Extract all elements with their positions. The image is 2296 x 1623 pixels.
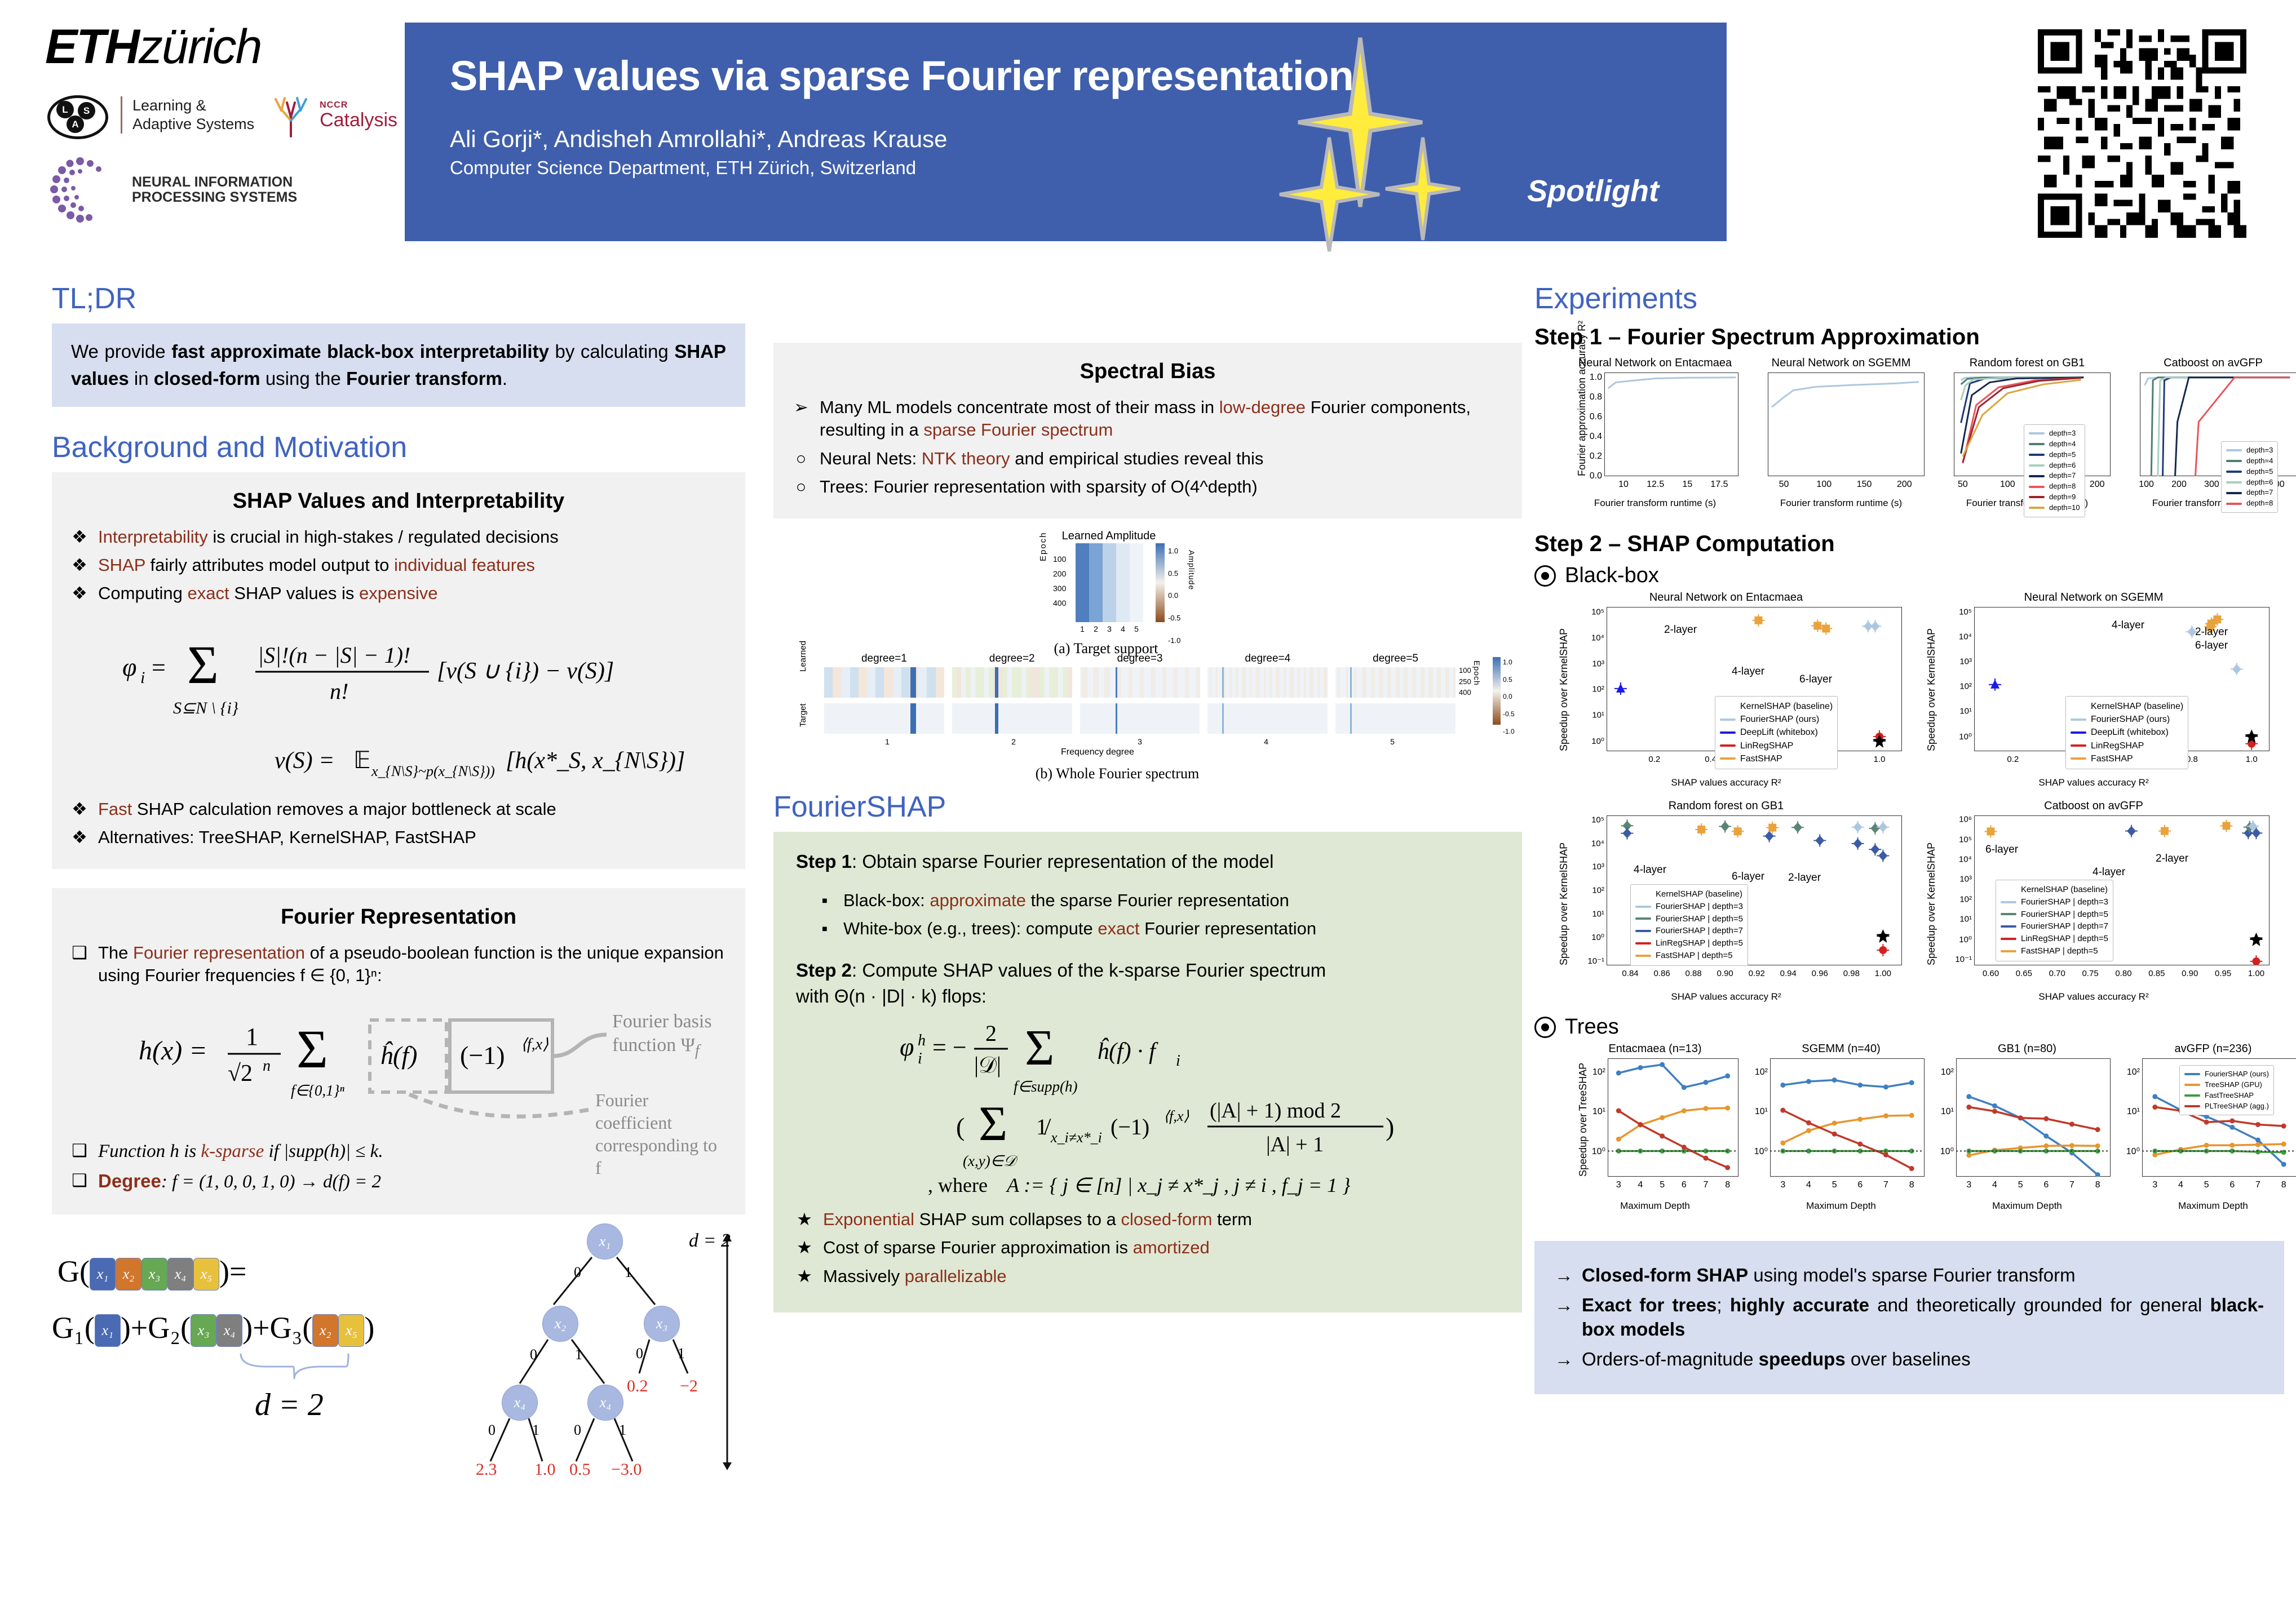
svg-text:A := { j ∈ [n] | x_j ≠ x*_j ,: A := { j ∈ [n] | x_j ≠ x*_j , j ≠ i , f_… — [1006, 1174, 1351, 1196]
legend-entry: depth=8 — [2029, 481, 2080, 492]
legend-label: FourierSHAP (ours) — [2091, 713, 2170, 726]
legend-label: depth=6 — [2049, 460, 2076, 471]
legend-entry: FourierSHAP | depth=3 — [2001, 896, 2108, 908]
spectrum-column-title: degree=3 — [1080, 653, 1200, 665]
legend-label: depth=10 — [2049, 503, 2080, 513]
decomposition-term: G₂(x₃x₄) — [148, 1311, 253, 1345]
legend-swatch — [1635, 942, 1651, 944]
chart-bb-gb1: Random forest on GB1Speedup over KernelS… — [1546, 800, 1906, 1003]
blackbox-label: Black-box — [1565, 564, 1659, 588]
legend-label: KernelSHAP (baseline) — [2091, 700, 2183, 713]
conclusions-list: →Closed-form SHAP using model's sparse F… — [1555, 1263, 2264, 1372]
fouriershap-sub-bullet: ▪White-box (e.g., trees): compute exact … — [816, 917, 1499, 940]
shap-formula: φ i = Σ S⊆N \ {i} |S|!(n − |S| − 1)! n! … — [71, 622, 726, 732]
chart-legend: depth=3depth=4depth=5depth=6depth=7depth… — [2221, 441, 2278, 513]
svg-text:ĥ(f): ĥ(f) — [380, 1041, 417, 1070]
legend-swatch — [1635, 955, 1651, 957]
conclusion-item: →Closed-form SHAP using model's sparse F… — [1555, 1263, 2264, 1288]
spectrum-column: degree=3 — [1080, 653, 1200, 737]
legend-label: FourierSHAP | depth=5 — [2021, 908, 2108, 921]
shap-bullets-top: ❖Interpretability is crucial in high-sta… — [71, 526, 726, 605]
chart-bb-avgfp: Catboost on avGFPSpeedup over KernelSHAP… — [1913, 800, 2274, 1003]
chart-plot-area — [1567, 357, 1743, 509]
left-column: TL;DR We provide fast approximate black-… — [52, 282, 745, 1485]
tree-node-x3: x₃ — [644, 1306, 680, 1342]
degree-note: d = 2 — [255, 1387, 324, 1423]
neurips-line-2: PROCESSING SYSTEMS — [132, 190, 297, 206]
legend-swatch — [2029, 475, 2045, 477]
legend-entry: DeepLift (whitebox) — [1720, 726, 1833, 739]
chart-plot-area — [1753, 1043, 1929, 1212]
tree-node-x4-right: x₄ — [587, 1385, 623, 1421]
svg-text:): ) — [1386, 1112, 1394, 1141]
legend-entry: DeepLift (whitebox) — [2071, 726, 2183, 739]
spotlight-label: Spotlight — [1527, 174, 1659, 209]
fouriershap-star-bullet: ★Massively parallelizable — [796, 1265, 1499, 1288]
legend-swatch — [2071, 744, 2086, 747]
legend-swatch — [2226, 503, 2242, 505]
shap-bullet: ❖Computing exact SHAP values is expensiv… — [71, 582, 726, 605]
legend-label: FastTreeSHAP — [2205, 1090, 2254, 1101]
chart-bb-entacmaea: Neural Network on EntacmaeaSpeedup over … — [1546, 591, 1906, 788]
spectral-bias-bullet: ○Trees: Fourier representation with spar… — [793, 476, 1503, 498]
legend-swatch — [2071, 719, 2086, 721]
spectrum-panel-b: degree=1degree=2degree=3degree=4degree=5… — [790, 653, 1512, 760]
tree-node-x4-left: x₄ — [502, 1385, 538, 1421]
neurips-line-1: NEURAL INFORMATION — [132, 175, 297, 190]
legend-label: FastSHAP — [1740, 752, 1782, 765]
legend-label: LinRegSHAP | depth=5 — [2021, 933, 2108, 945]
legend-entry: depth=6 — [2029, 460, 2080, 471]
fouriershap-formula-svg: φ h i = − 2 |𝒟| Σ f∈supp(h) ĥ(f) · f i (… — [815, 1014, 1480, 1200]
shap-formula-svg: φ i = Σ S⊆N \ {i} |S|!(n − |S| − 1)! n! … — [89, 622, 709, 729]
panel-b-row-label-learned: Learned — [798, 641, 808, 672]
bullet-marker: ○ — [793, 476, 809, 498]
chart-legend: KernelSHAP (baseline)FourierSHAP | depth… — [1630, 884, 1748, 966]
fourier-box-title: Fourier Representation — [71, 905, 726, 929]
arrow-icon: → — [1555, 1293, 1572, 1342]
legend-swatch — [1720, 744, 1736, 747]
edge-label-2: 0 — [530, 1346, 537, 1363]
nccr-tree-icon — [269, 92, 313, 138]
legend-label: FourierSHAP | depth=5 — [1656, 913, 1743, 925]
svg-text:⟨f,x⟩: ⟨f,x⟩ — [1164, 1108, 1189, 1124]
legend-entry: FourierSHAP | depth=5 — [1635, 913, 1743, 925]
legend-label: FourierSHAP | depth=3 — [2021, 896, 2108, 908]
panel-a-ytick-3: 400 — [1053, 598, 1066, 607]
chart-bb-sgemm: Neural Network on SGEMMSpeedup over Kern… — [1913, 591, 2274, 788]
legend-entry: depth=7 — [2029, 471, 2080, 481]
title-banner: SHAP values via sparse Fourier represent… — [405, 23, 1727, 241]
decomposition-term: G₃(x₂x₅) — [270, 1311, 375, 1345]
feature-chip: x₅ — [193, 1258, 219, 1291]
feature-chip: x₁ — [90, 1258, 116, 1291]
feature-chip: x₅ — [338, 1314, 364, 1347]
step1-heading: Step 1 – Fourier Spectrum Approximation — [1534, 325, 2284, 350]
svg-text:𝔼: 𝔼 — [353, 748, 371, 774]
legend-label: FourierSHAP (ours) — [1740, 713, 1819, 726]
fouriershap-sub-bullet: ▪Black-box: approximate the sparse Fouri… — [816, 889, 1499, 912]
legend-label: TreeSHAP (GPU) — [2205, 1080, 2262, 1090]
svg-text:f∈{0,1}ⁿ: f∈{0,1}ⁿ — [291, 1082, 344, 1099]
legend-label: depth=4 — [2246, 456, 2273, 467]
legend-entry: KernelSHAP (baseline) — [2071, 700, 2183, 713]
tree-leaf-5: 0.2 — [627, 1377, 648, 1396]
legend-swatch — [2029, 496, 2045, 498]
panel-a-ytick-0: 100 — [1053, 555, 1066, 564]
svg-text:h(x) =: h(x) = — [139, 1036, 207, 1066]
spectral-bias-title: Spectral Bias — [793, 360, 1503, 384]
shap-box-title: SHAP Values and Interpretability — [71, 489, 726, 513]
shap-bullet: ❖Fast SHAP calculation removes a major b… — [71, 798, 726, 821]
neurips-swirl-icon — [45, 154, 124, 225]
decomposition-equation-line2: G₁(x₁)+G₂(x₃x₄)+G₃(x₂x₅) — [52, 1310, 374, 1347]
eth-logo-light: zürich — [139, 20, 261, 74]
chart-annotation: 2-layer — [1664, 624, 1697, 636]
spectrum-column-title: degree=1 — [824, 653, 944, 665]
legend-entry: depth=5 — [2226, 467, 2273, 477]
spectrum-panel-a: Learned Amplitude Epoch 100 200 300 400 … — [1033, 530, 1219, 645]
svg-text:[h(x*_S, x_{N\S})]: [h(x*_S, x_{N\S})] — [506, 748, 685, 774]
chart-trees-gb1: GB1 (n=80)Maximum Depth34567810⁰10¹10² — [1939, 1043, 2115, 1212]
fourier-bullet-3: ❑ Degree: f = (1, 0, 0, 1, 0) → d(f) = 2 — [71, 1169, 499, 1194]
svg-text:Σ: Σ — [297, 1019, 328, 1079]
bullet-marker: ★ — [796, 1236, 813, 1259]
tree-depth-label: d = 2 — [689, 1230, 731, 1252]
panel-b-caption: (b) Whole Fourier spectrum — [959, 765, 1275, 782]
feature-chip: x₃ — [191, 1314, 216, 1347]
legend-label: depth=8 — [2049, 481, 2076, 492]
radio-icon[interactable] — [1534, 565, 1556, 587]
fourier-bullet-3-text: Degree: f = (1, 0, 0, 1, 0) → d(f) = 2 — [98, 1169, 381, 1194]
legend-label: KernelSHAP (baseline) — [1740, 700, 1833, 713]
bullet-marker: ❑ — [71, 1139, 88, 1164]
svg-text:n: n — [263, 1057, 271, 1075]
legend-entry: FastSHAP — [1720, 752, 1833, 765]
panel-a-heatmap — [1076, 543, 1143, 622]
chart-plot-area — [1939, 1043, 2115, 1212]
edge-label-5: 1 — [678, 1345, 685, 1362]
background-heading: Background and Motivation — [52, 431, 745, 464]
legend-entry: KernelSHAP (baseline) — [1720, 700, 1833, 713]
legend-swatch — [2184, 1094, 2200, 1097]
svg-text:1̸: 1̸ — [1036, 1114, 1051, 1139]
las-line-2: Adaptive Systems — [132, 115, 254, 134]
chart-legend: FourierSHAP (ours)TreeSHAP (GPU)FastTree… — [2179, 1065, 2274, 1115]
panel-b-row-label-target: Target — [798, 703, 808, 727]
chart-annotation: 2-layer — [1788, 872, 1821, 884]
svg-text:φ: φ — [122, 653, 136, 681]
legend-swatch — [2001, 901, 2016, 903]
decomposition-term: G₁(x₁) — [52, 1311, 131, 1345]
chart-trees-avgfp: avGFP (n=236)Maximum Depth34567810⁰10¹10… — [2125, 1043, 2296, 1212]
bullet-marker: ❑ — [71, 942, 88, 987]
svg-text:(: ( — [956, 1112, 965, 1141]
chart-step1-gb1: Random forest on GB1Fourier transform ru… — [1939, 357, 2115, 509]
legend-swatch — [2226, 460, 2242, 462]
tree-leaf-4: −3.0 — [611, 1460, 642, 1479]
legend-swatch — [1635, 930, 1651, 932]
las-logo-icon: L S A — [45, 93, 106, 137]
panel-a-colorbar-ticks: 1.00.5 0.0-0.5 -1.0 — [1168, 540, 1180, 651]
arrow-icon: → — [1555, 1347, 1572, 1372]
legend-entry: depth=4 — [2029, 439, 2080, 450]
legend-entry: LinRegSHAP | depth=5 — [1635, 937, 1743, 950]
edge-label-4: 0 — [636, 1345, 643, 1362]
legend-label: depth=4 — [2049, 439, 2076, 450]
legend-label: FourierSHAP | depth=7 — [1656, 925, 1743, 937]
legend-swatch — [2071, 731, 2086, 734]
chart-step1-entacmaea: Neural Network on EntacmaeaFourier appro… — [1567, 357, 1743, 509]
legend-label: KernelSHAP (baseline) — [2021, 884, 2108, 896]
legend-entry: FastSHAP — [2071, 752, 2183, 765]
bullet-marker: ▪ — [816, 889, 833, 912]
poster-root: ETHzürich L S A Learning & Adaptive Syst… — [0, 0, 2296, 1623]
trees-chart-row: Entacmaea (n=13)Speedup over TreeSHAPMax… — [1534, 1043, 2284, 1229]
bullet-marker: ★ — [796, 1265, 813, 1288]
fourier-representation-box: Fourier Representation ❑ The Fourier rep… — [52, 888, 745, 1214]
tldr-heading: TL;DR — [52, 282, 745, 316]
shap-values-box: SHAP Values and Interpretability ❖Interp… — [52, 472, 745, 869]
svg-text:ĥ(f) · f: ĥ(f) · f — [1097, 1037, 1158, 1065]
feature-chip: x₁ — [95, 1314, 121, 1347]
svg-text:= −: = − — [932, 1034, 967, 1061]
las-letter-a: A — [67, 116, 84, 133]
legend-entry: LinRegSHAP — [2071, 739, 2183, 752]
spotlight-badge: Spotlight — [405, 23, 1727, 241]
chart-annotation: 6-layer — [1732, 871, 1764, 883]
fourier-formula-area: h(x) = 1 √2 n Σ f∈{0,1}ⁿ ĥ(f) (−1) ⟨f,x⟩ — [71, 993, 726, 1134]
nccr-logo-text: NCCR Catalysis — [320, 100, 397, 130]
sparkle-small-icon — [1383, 135, 1462, 242]
legend-label: FastSHAP | depth=5 — [1656, 950, 1733, 962]
spectrum-column: degree=1 — [824, 653, 944, 737]
feature-chip: x₂ — [116, 1258, 141, 1291]
legend-label: FourierSHAP | depth=7 — [2021, 920, 2108, 933]
legend-entry: depth=6 — [2226, 477, 2273, 488]
legend-entry: KernelSHAP (baseline) — [2001, 884, 2108, 896]
las-logo-text: Learning & Adaptive Systems — [121, 96, 254, 134]
legend-entry: FourierSHAP (ours) — [2184, 1069, 2269, 1080]
svg-text:[v(S ∪ {i}) − v(S)]: [v(S ∪ {i}) − v(S)] — [437, 658, 614, 684]
legend-entry: FastSHAP | depth=5 — [1635, 950, 1743, 962]
decomposition-tree-figure: G(x₁x₂x₃x₄x₅)= G₁(x₁)+G₂(x₃x₄)+G₃(x₂x₅) … — [52, 1220, 745, 1485]
legend-swatch — [2071, 757, 2086, 760]
partner-logo-row: L S A Learning & Adaptive Systems — [45, 92, 406, 138]
blackbox-chart-row-1: Neural Network on EntacmaeaSpeedup over … — [1534, 591, 2284, 800]
feature-chip: x₂ — [312, 1314, 338, 1347]
panel-b-colorbar — [1493, 657, 1501, 725]
svg-text:f∈supp(h): f∈supp(h) — [1014, 1078, 1078, 1095]
legend-entry: depth=4 — [2226, 456, 2273, 467]
logo-stack: ETHzürich L S A Learning & Adaptive Syst… — [45, 23, 406, 225]
edge-label-3: 1 — [575, 1346, 582, 1363]
legend-swatch — [2029, 443, 2045, 445]
panel-b-xlabel: Frequency degree — [1061, 747, 1134, 757]
fouriershap-star-bullet: ★Exponential SHAP sum collapses to a clo… — [796, 1208, 1499, 1231]
chart-annotation: 2-layer — [2195, 626, 2228, 638]
tree-leaf-6: −2 — [680, 1377, 698, 1396]
conclusion-item: →Exact for trees; highly accurate and th… — [1555, 1293, 2264, 1342]
legend-swatch — [2001, 925, 2016, 928]
sparkle-medium-icon — [1277, 135, 1382, 254]
spectrum-column: degree=4 — [1207, 653, 1328, 737]
legend-swatch — [1720, 731, 1736, 734]
radio-icon[interactable] — [1534, 1017, 1556, 1038]
legend-swatch — [2029, 507, 2045, 509]
qr-code[interactable] — [2029, 29, 2255, 238]
svg-text:x_{N\S}~p(x_{N\S})): x_{N\S}~p(x_{N\S})) — [371, 763, 495, 779]
bullet-marker: ★ — [796, 1208, 813, 1231]
chart-plot-area — [1567, 1043, 1743, 1212]
shap-bullet: ❖Alternatives: TreeSHAP, KernelSHAP, Fas… — [71, 826, 726, 849]
tldr-box: We provide fast approximate black-box in… — [52, 323, 745, 407]
spectral-bias-bullets: ➢Many ML models concentrate most of thei… — [793, 396, 1503, 498]
legend-entry: FourierSHAP | depth=3 — [1635, 901, 1743, 913]
legend-label: depth=7 — [2049, 471, 2076, 481]
fourier-bullet-2: ❑ Function h is k-sparse if |supp(h)| ≤ … — [71, 1139, 499, 1164]
chart-annotation: 6-layer — [1985, 844, 2018, 856]
middle-column: Spectral Bias ➢Many ML models concentrat… — [773, 343, 1522, 1312]
svg-text:i: i — [1176, 1052, 1180, 1070]
legend-swatch — [2029, 464, 2045, 467]
bullet-marker: ❖ — [71, 526, 88, 548]
svg-text:√2: √2 — [228, 1061, 253, 1087]
chart-annotation: 6-layer — [1799, 673, 1832, 686]
svg-text:|𝒟|: |𝒟| — [974, 1052, 1001, 1077]
legend-entry: depth=8 — [2226, 498, 2273, 509]
bullet-marker: ▪ — [816, 917, 833, 940]
edge-label-7: 1 — [532, 1422, 539, 1439]
experiments-heading: Experiments — [1534, 282, 2284, 316]
legend-swatch — [1720, 757, 1736, 760]
edge-label-9: 1 — [619, 1422, 626, 1439]
las-line-1: Learning & — [132, 96, 254, 115]
legend-entry: FourierSHAP (ours) — [2071, 713, 2183, 726]
chart-annotation: 6-layer — [2195, 640, 2228, 652]
legend-entry: depth=7 — [2226, 487, 2273, 498]
spectrum-column: degree=5 — [1335, 653, 1456, 737]
svg-text:(−1): (−1) — [1111, 1114, 1149, 1139]
panel-a-colorbar-label: Amplitude — [1187, 550, 1196, 590]
fouriershap-sub-bullets: ▪Black-box: approximate the sparse Fouri… — [816, 889, 1499, 941]
chart-trees-entacmaea: Entacmaea (n=13)Speedup over TreeSHAPMax… — [1567, 1043, 1743, 1212]
legend-label: depth=9 — [2049, 492, 2076, 503]
neurips-logo-text: NEURAL INFORMATION PROCESSING SYSTEMS — [132, 175, 297, 206]
legend-entry: depth=5 — [2029, 450, 2080, 460]
legend-entry: depth=3 — [2226, 445, 2273, 456]
legend-swatch — [2226, 481, 2242, 484]
legend-entry: depth=3 — [2029, 428, 2080, 439]
conclusion-item: →Orders-of-magnitude speedups over basel… — [1555, 1347, 2264, 1372]
bullet-marker: ❖ — [71, 826, 88, 849]
legend-entry: depth=10 — [2029, 503, 2080, 513]
spectral-bias-box: Spectral Bias ➢Many ML models concentrat… — [773, 343, 1522, 518]
bullet-marker: ❖ — [71, 582, 88, 605]
value-function-svg: v(S) = 𝔼 x_{N\S}~p(x_{N\S})) [h(x*_S, x_… — [89, 735, 709, 786]
legend-entry: FourierSHAP (ours) — [1720, 713, 1833, 726]
tree-node-root: x₁ — [587, 1223, 623, 1260]
tree-leaf-1: 2.3 — [476, 1460, 497, 1479]
tree-leaf-3: 0.5 — [569, 1460, 591, 1479]
fouriershap-step1: Step 1: Obtain sparse Fourier representa… — [796, 851, 1499, 872]
spectral-bias-bullet: ○Neural Nets: NTK theory and empirical s… — [793, 447, 1503, 470]
feature-chip: x₄ — [167, 1258, 193, 1291]
legend-entry: FourierSHAP | depth=7 — [1635, 925, 1743, 937]
legend-entry: TreeSHAP (GPU) — [2184, 1080, 2269, 1090]
svg-text:x_i≠x*_i: x_i≠x*_i — [1050, 1129, 1102, 1146]
legend-swatch — [2184, 1073, 2200, 1075]
chart-step1-sgemm: Neural Network on SGEMMFourier transform… — [1753, 357, 1929, 509]
fourier-basis-callout: Fourier basis function Ψf — [612, 1010, 712, 1061]
legend-entry: FourierSHAP | depth=5 — [2001, 908, 2108, 921]
fouriershap-box: Step 1: Obtain sparse Fourier representa… — [773, 832, 1522, 1312]
decomposition-equation-line1: G(x₁x₂x₃x₄x₅)= — [57, 1254, 246, 1291]
svg-text:(−1): (−1) — [460, 1041, 505, 1070]
svg-text:n!: n! — [330, 679, 348, 704]
panel-a-ytick-1: 200 — [1053, 569, 1066, 578]
chart-annotation: 4-layer — [2112, 619, 2144, 632]
svg-text:⟨f,x⟩: ⟨f,x⟩ — [521, 1036, 548, 1053]
legend-swatch — [2001, 938, 2016, 940]
legend-entry: LinRegSHAP | depth=5 — [2001, 933, 2108, 945]
fouriershap-step2: Step 2: Compute SHAP values of the k-spa… — [796, 957, 1499, 1009]
fouriershap-star-bullets: ★Exponential SHAP sum collapses to a clo… — [796, 1208, 1499, 1288]
degree-brace-icon — [238, 1351, 351, 1385]
legend-label: depth=6 — [2246, 477, 2273, 488]
trees-mode-heading: Trees — [1534, 1015, 2284, 1039]
binary-tree: x₁ x₂ x₃ x₄ x₄ 0 1 0 1 0 1 0 1 0 1 2.3 1… — [463, 1220, 745, 1479]
svg-text:=: = — [152, 654, 166, 681]
spectrum-figure: Learned Amplitude Epoch 100 200 300 400 … — [773, 530, 1522, 755]
svg-text:(|A| + 1) mod 2: (|A| + 1) mod 2 — [1210, 1099, 1341, 1123]
panel-b-epoch-label: Epoch — [1472, 660, 1481, 686]
legend-label: depth=5 — [2246, 467, 2273, 477]
panel-a-title: Learned Amplitude — [1033, 530, 1185, 543]
svg-text:, where: , where — [928, 1174, 988, 1196]
neurips-logo: NEURAL INFORMATION PROCESSING SYSTEMS — [45, 154, 406, 225]
step1-chart-row: Neural Network on EntacmaeaFourier appro… — [1534, 357, 2284, 526]
legend-swatch — [2226, 449, 2242, 451]
edge-label-6: 0 — [488, 1422, 496, 1439]
legend-entry: LinRegSHAP — [1720, 739, 1833, 752]
chart-annotation: 4-layer — [1634, 864, 1666, 876]
bullet-marker: ❖ — [71, 798, 88, 821]
shap-bullet: ❖SHAP fairly attributes model output to … — [71, 554, 726, 577]
legend-label: LinRegSHAP — [1740, 739, 1793, 752]
legend-label: depth=8 — [2246, 498, 2273, 509]
spectrum-column-title: degree=2 — [952, 653, 1072, 665]
edge-label-8: 0 — [574, 1422, 581, 1439]
legend-label: depth=3 — [2049, 428, 2076, 439]
panel-a-ytick-2: 300 — [1053, 584, 1066, 593]
panel-b-colorbar-ticks: 1.00.5 0.0-0.5 -1.0 — [1503, 654, 1515, 740]
arrow-icon: → — [1555, 1263, 1572, 1288]
spectrum-column-title: degree=5 — [1335, 653, 1456, 665]
bullet-marker: ➢ — [793, 396, 809, 442]
spectrum-column-title: degree=4 — [1207, 653, 1328, 665]
legend-entry: FastSHAP | depth=5 — [2001, 945, 2108, 957]
legend-swatch — [2001, 950, 2016, 952]
fouriershap-star-bullet: ★Cost of sparse Fourier approximation is… — [796, 1236, 1499, 1259]
chart-legend: KernelSHAP (baseline)FourierSHAP (ours)D… — [2065, 696, 2188, 769]
legend-swatch — [1635, 906, 1651, 908]
chart-legend: KernelSHAP (baseline)FourierSHAP (ours)D… — [1715, 696, 1838, 769]
chart-trees-sgemm: SGEMM (n=40)Maximum Depth34567810⁰10¹10² — [1753, 1043, 1929, 1212]
legend-label: depth=3 — [2246, 445, 2273, 456]
chart-annotation: 2-layer — [2156, 853, 2188, 865]
step2-heading: Step 2 – SHAP Computation — [1534, 531, 2284, 557]
